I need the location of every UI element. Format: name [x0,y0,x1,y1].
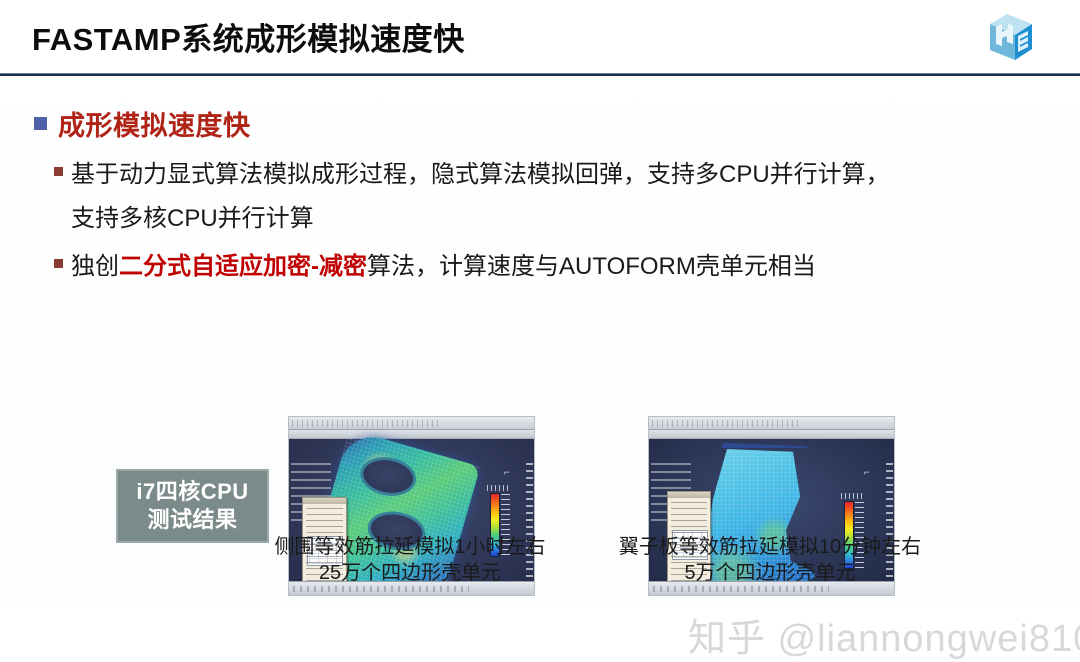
slide-content: 成形模拟速度快 基于动力显式算法模拟成形过程，隐式算法模拟回弹，支持多CPU并行… [0,75,1080,608]
caption-left-line1: 侧围等效筋拉延模拟1小时左右 [200,534,620,560]
fastamp-cube-logo-icon [980,10,1042,66]
small-square-bullet-icon [54,259,63,268]
caption-right-line1: 翼子板等效筋拉延模拟10分钟左右 [560,534,980,560]
bullet-item-1-line1: 基于动力显式算法模拟成形过程，隐式算法模拟回弹，支持多CPU并行计算， [71,153,890,197]
watermark-text: 知乎 @liannongwei810 [688,607,1080,662]
bullet-item-1: 基于动力显式算法模拟成形过程，隐式算法模拟回弹，支持多CPU并行计算， [54,153,890,197]
axis-triad-icon: ⌐ [504,467,518,481]
section-heading-label: 成形模拟速度快 [58,104,251,143]
caption-right: 翼子板等效筋拉延模拟10分钟左右 5万个四边形壳单元 [560,534,980,586]
bullet-item-1-line2: 支持多核CPU并行计算 [71,197,314,241]
part-hole [357,453,419,500]
bullet-2-prefix: 独创 [71,253,119,280]
section-heading: 成形模拟速度快 [34,104,251,143]
callout-line-2: 测试结果 [147,506,237,534]
bullet-item-2-text: 独创二分式自适应加密-减密算法，计算速度与AUTOFORM壳单元相当 [71,245,816,289]
cpu-test-callout: i7四核CPU 测试结果 [116,469,269,543]
small-square-bullet-icon [54,167,63,176]
legend-title [487,485,509,491]
slide-header: FASTAMP系统成形模拟速度快 [0,0,1080,75]
legend-title [841,493,863,499]
bullet-2-highlight: 二分式自适应加密-减密 [119,253,367,280]
cae-menubar [289,417,534,430]
bullet-2-suffix: 算法，计算速度与AUTOFORM壳单元相当 [367,253,816,280]
caption-right-line2: 5万个四边形壳单元 [560,560,980,586]
cae-toolbar [649,430,894,439]
cae-toolbar [289,430,534,439]
square-bullet-icon [34,117,47,130]
page-title: FASTAMP系统成形模拟速度快 [32,14,465,59]
caption-left: 侧围等效筋拉延模拟1小时左右 25万个四边形壳单元 [200,534,620,586]
axis-triad-icon: ⌐ [864,467,878,481]
callout-line-1: i7四核CPU [136,478,248,506]
bullet-item-2: 独创二分式自适应加密-减密算法，计算速度与AUTOFORM壳单元相当 [54,245,816,289]
cae-menubar [649,417,894,430]
caption-left-line2: 25万个四边形壳单元 [200,560,620,586]
